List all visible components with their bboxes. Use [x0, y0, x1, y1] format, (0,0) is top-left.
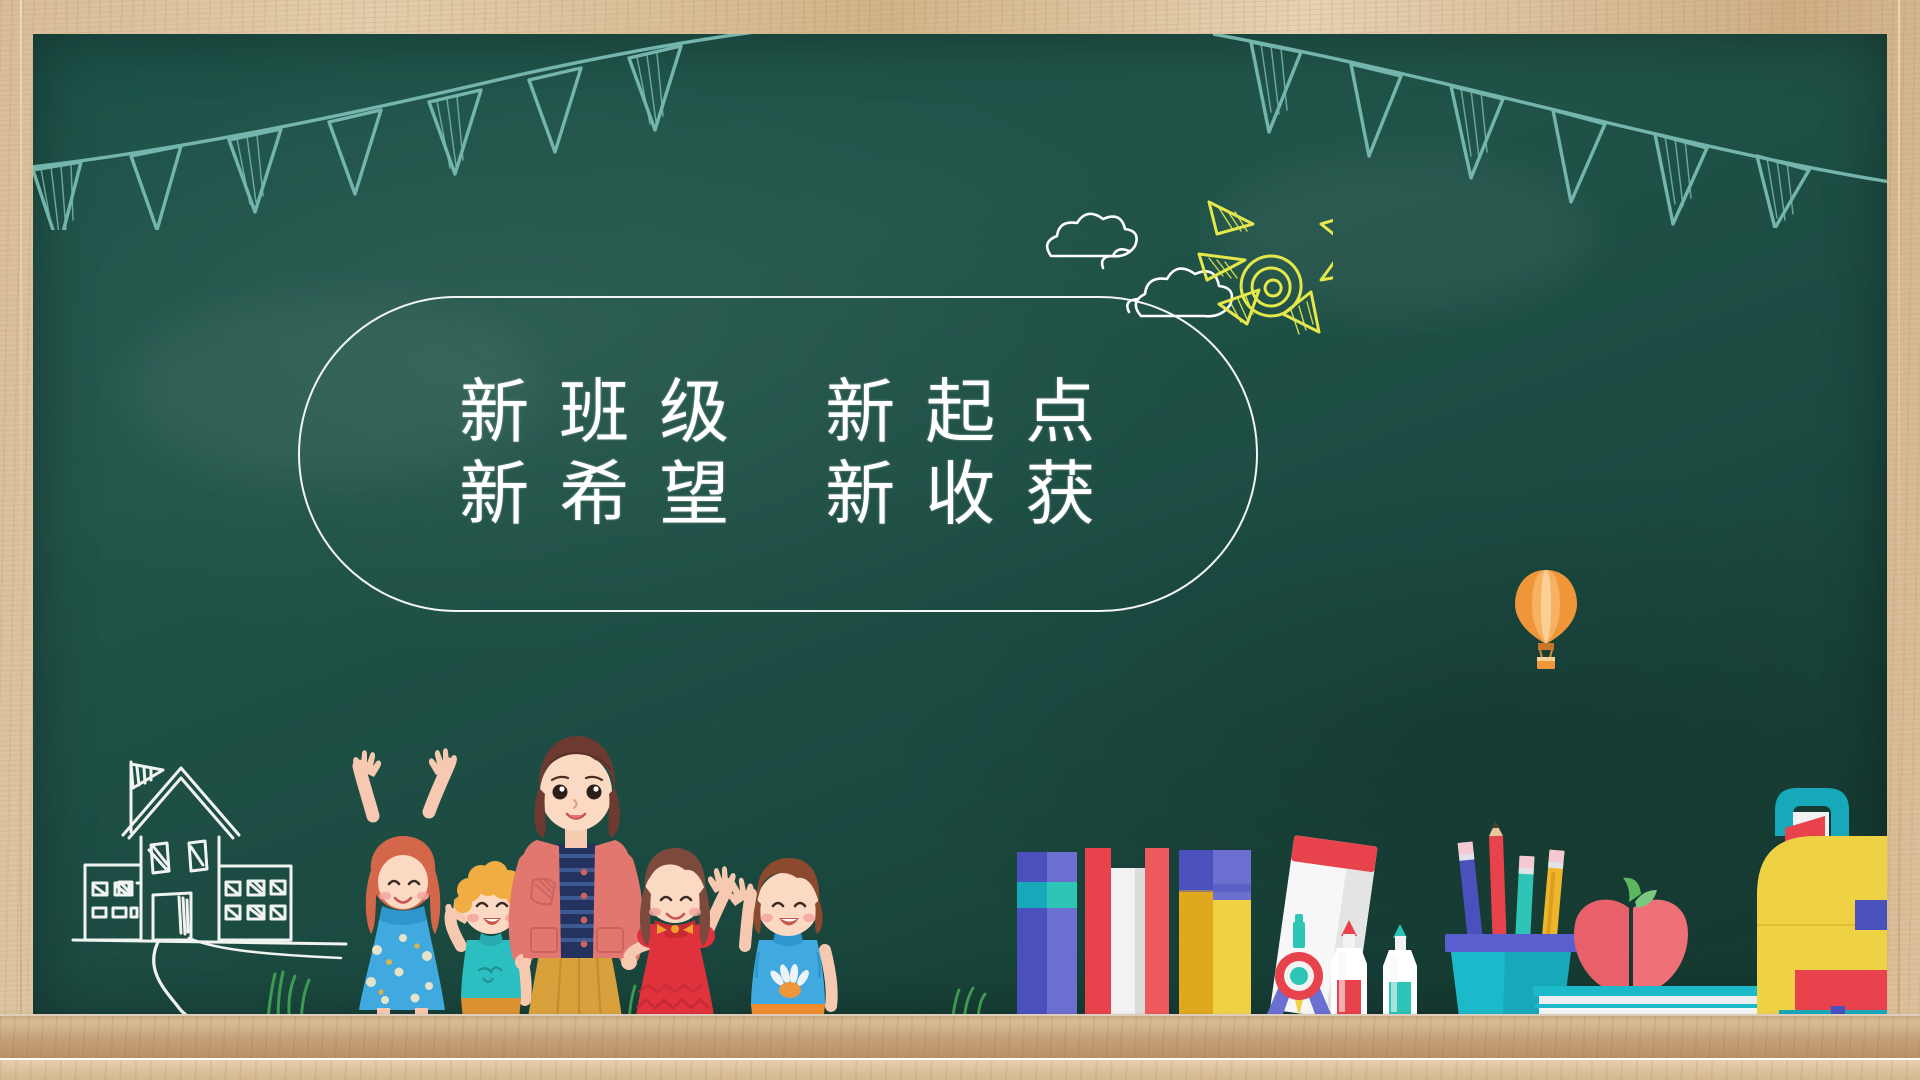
chalkboard: 新 班 级 新 起 点 新 希 望 新	[33, 34, 1887, 1021]
title-char: 班	[545, 375, 645, 451]
page-title: 新 班 级 新 起 点 新 希 望 新	[298, 296, 1258, 612]
book-stack-left	[1017, 852, 1077, 1014]
cloud-icon	[1047, 214, 1136, 268]
glue-bottle-teal	[1383, 924, 1417, 1014]
book-yellow-blue	[1179, 850, 1251, 1014]
character-girl-red-hair	[353, 748, 457, 1021]
wood-plank-seam-right	[1898, 0, 1900, 1080]
title-char: 新	[811, 457, 911, 533]
backpack	[1757, 788, 1887, 1021]
students-and-teacher-illustration	[333, 724, 973, 1021]
wood-lower-frame	[0, 1058, 1920, 1080]
school-supplies-illustration	[993, 724, 1887, 1021]
wood-ledge	[0, 1014, 1920, 1058]
title-line-2-left: 新 希 望	[445, 457, 745, 533]
title-char: 获	[1011, 457, 1111, 533]
title-char: 新	[445, 375, 545, 451]
pencil-red	[1488, 822, 1507, 952]
backpack-pocket	[1795, 970, 1887, 1010]
title-char: 新	[811, 375, 911, 451]
title-char: 点	[1011, 375, 1111, 451]
title-char: 收	[911, 457, 1011, 533]
wood-plank-seam-left	[20, 0, 22, 1080]
hot-air-balloon-icon	[1511, 564, 1581, 674]
bunting-garland-left-icon	[33, 34, 803, 230]
backpack-tag	[1855, 900, 1887, 930]
character-girl-red-dress	[629, 848, 736, 1021]
title-char: 希	[545, 457, 645, 533]
schoolhouse-doodle-icon	[71, 740, 361, 1021]
title-line-1-left: 新 班 级	[445, 375, 745, 451]
character-teacher	[515, 736, 637, 1021]
title-line-1-right: 新 起 点	[811, 375, 1111, 451]
apple-icon	[1574, 878, 1688, 988]
title-char: 新	[445, 457, 545, 533]
title-char: 望	[645, 457, 745, 533]
title-line-1: 新 班 级 新 起 点	[445, 375, 1111, 451]
title-char: 起	[911, 375, 1011, 451]
character-boy-blue-shirt	[726, 858, 832, 1021]
title-char: 级	[645, 375, 745, 451]
book-red-white	[1085, 848, 1169, 1014]
title-line-2: 新 希 望 新 收 获	[445, 457, 1111, 533]
title-line-2-right: 新 收 获	[811, 457, 1111, 533]
slide-canvas: 新 班 级 新 起 点 新 希 望 新	[0, 0, 1920, 1080]
